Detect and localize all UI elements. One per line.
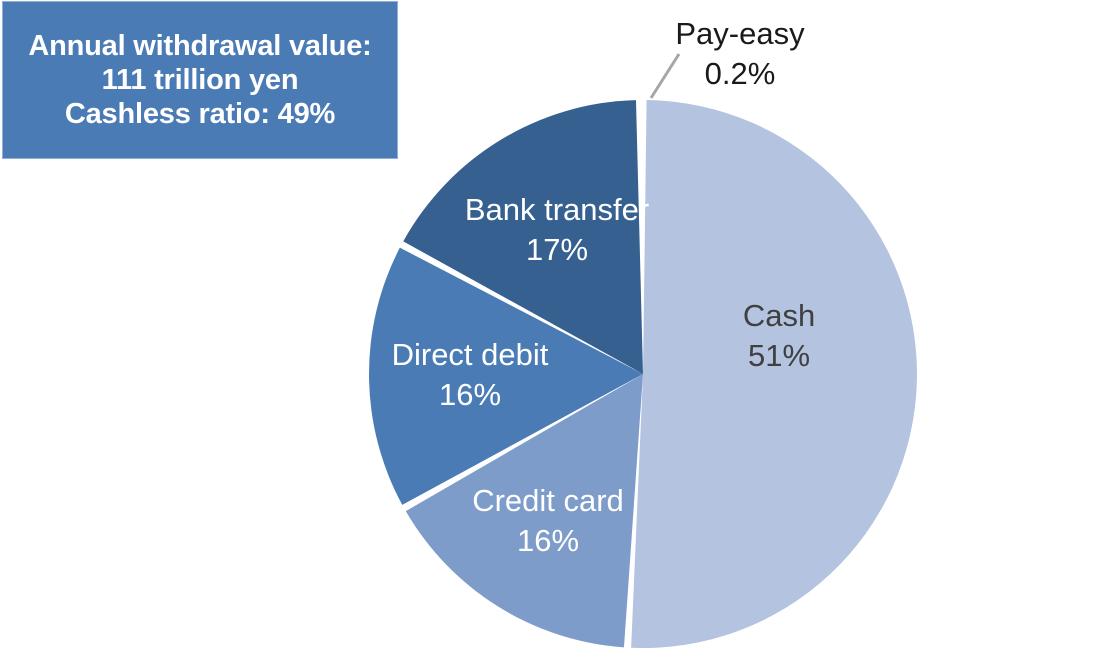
pay-easy-leader-line — [651, 54, 679, 98]
slice-label-name-cash: Cash — [743, 298, 815, 333]
slice-label-name-direct-debit: Direct debit — [392, 337, 549, 372]
chart-canvas: Annual withdrawal value: 111 trillion ye… — [0, 0, 1120, 668]
leader-line-group — [651, 54, 679, 98]
slice-label-name-pay-easy: Pay-easy — [675, 16, 805, 51]
slice-value-cash: 51% — [748, 338, 810, 373]
slice-value-bank-transfer: 17% — [526, 232, 588, 267]
pie-slice-cash[interactable] — [631, 100, 917, 648]
slice-label-name-bank-transfer: Bank transfer — [465, 192, 649, 227]
slice-value-direct-debit: 16% — [439, 377, 501, 412]
pie-slice-group — [369, 100, 917, 648]
slice-label-pay-easy: Pay-easy0.2% — [675, 16, 805, 91]
slice-value-credit-card: 16% — [517, 523, 579, 558]
slice-label-name-credit-card: Credit card — [472, 483, 624, 518]
pie-chart: Cash51%Credit card16%Direct debit16%Bank… — [0, 0, 1120, 668]
slice-value-pay-easy: 0.2% — [705, 56, 776, 91]
